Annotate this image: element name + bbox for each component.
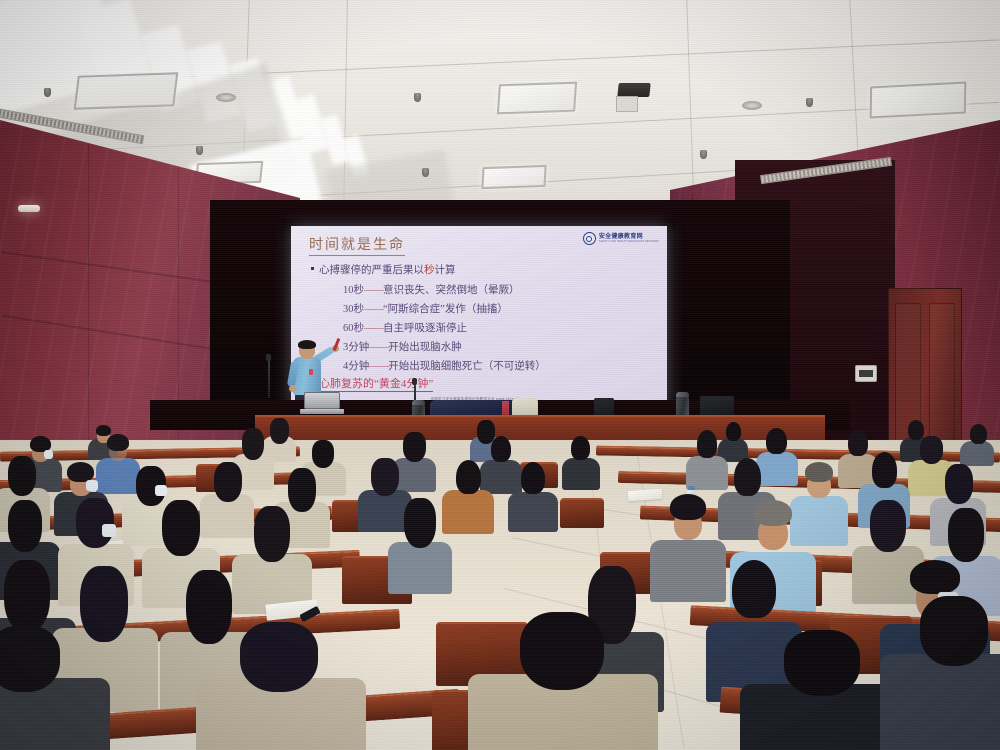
row-text: 开始出现脑水肿 (388, 342, 462, 353)
ceiling-light-panel (870, 82, 967, 119)
bullet-suffix: 计算 (435, 265, 456, 276)
wall-control-panel[interactable] (855, 365, 877, 382)
row-dash: —— (369, 342, 388, 353)
bottle-cap (688, 486, 695, 490)
bullet-prefix: 心搏骤停的严重后果以 (319, 265, 424, 276)
row-text: 开始出现脑细胞死亡（不可逆转） (388, 361, 546, 372)
row-time: 4分钟 (343, 361, 369, 372)
sprinkler-head (700, 150, 707, 159)
row-dash: —— (364, 323, 383, 334)
slide-row: 60秒——自主呼吸逐渐停止 (343, 320, 467, 335)
ceiling-light-panel (497, 82, 577, 115)
slide-row: 30秒——“阿斯综合症”发作（抽搐） (343, 301, 508, 316)
sprinkler-head (414, 93, 421, 102)
row-time: 30秒 (343, 304, 364, 315)
row-time: 60秒 (343, 323, 364, 334)
ceiling-projector (617, 83, 650, 97)
row-dash: —— (364, 304, 383, 315)
microphone-head-icon (412, 378, 417, 385)
row-text: 意识丧失、突然倒地（晕厥） (383, 285, 520, 296)
row-dash: —— (364, 285, 383, 296)
presenter-hair (298, 340, 316, 349)
sprinkler-head (806, 98, 813, 107)
projector-mount-plate (616, 96, 638, 112)
sprinkler-head (196, 146, 203, 155)
thermos-cap (676, 392, 689, 397)
projection-screen: 时间就是生命 安全健康教育网 SAFETY AND HEALTH EDUCATI… (291, 226, 667, 408)
audience-person (960, 424, 994, 464)
sprinkler-head (44, 88, 51, 97)
audience-person-foreground (468, 612, 658, 750)
slide-logo: 安全健康教育网 SAFETY AND HEALTH EDUCATION NETW… (583, 232, 659, 245)
wall-sconce (18, 205, 40, 212)
logo-english-name: SAFETY AND HEALTH EDUCATION NETWORK (599, 240, 659, 243)
organization-emblem-icon (583, 232, 596, 245)
audience-person-foreground (0, 626, 110, 750)
bullet-marker-icon (311, 267, 314, 270)
microphone-stand (268, 358, 270, 398)
audience-chair[interactable] (560, 498, 604, 528)
row-text: 自主呼吸逐渐停止 (383, 323, 467, 334)
audience-person (508, 462, 558, 530)
slide-row: 10秒——意识丧失、突然倒地（晕厥） (343, 282, 520, 297)
row-time: 10秒 (343, 285, 364, 296)
slide-title: 时间就是生命 (309, 234, 405, 256)
ceiling-light-panel (74, 72, 179, 109)
thermos-cap (412, 400, 425, 405)
presenter-badge (309, 369, 313, 375)
slide-bullet-main: 心搏骤停的严重后果以秒计算 (311, 262, 456, 277)
slide-row: 3分钟——开始出现脑水肿 (343, 339, 462, 354)
conference-hall-photo: 时间就是生命 安全健康教育网 SAFETY AND HEALTH EDUCATI… (0, 0, 1000, 750)
audience-person-foreground (880, 596, 1000, 750)
ceiling-light-panel (481, 165, 546, 189)
presenter-hand-2 (289, 385, 296, 392)
laptop (300, 392, 342, 416)
row-dash: —— (369, 361, 388, 372)
audience-person (562, 436, 600, 488)
microphone-head-icon (266, 354, 271, 361)
ceiling-speaker (216, 93, 236, 102)
audience-person (388, 498, 452, 590)
row-text: “阿斯综合症”发作（抽搐） (383, 304, 508, 315)
slide-row: 4分钟——开始出现脑细胞死亡（不可逆转） (343, 358, 546, 373)
sprinkler-head (422, 168, 429, 177)
row-time: 3分钟 (343, 342, 369, 353)
audience-person-foreground (196, 622, 366, 750)
ceiling-speaker (742, 101, 762, 110)
bullet-highlight: 秒 (424, 265, 435, 276)
